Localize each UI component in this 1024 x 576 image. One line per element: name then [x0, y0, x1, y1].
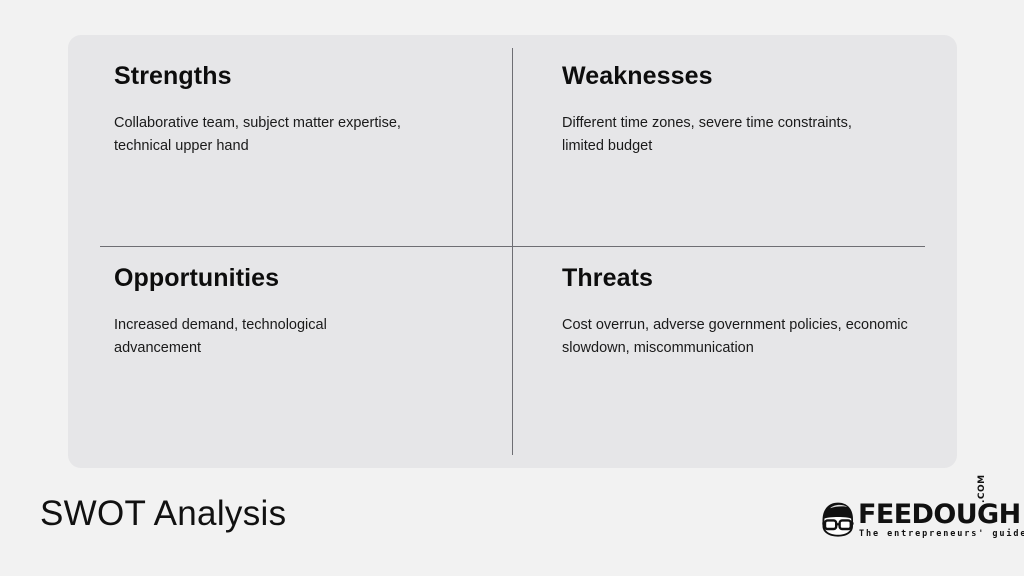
quadrant-threats-heading: Threats [562, 265, 942, 293]
quadrant-opportunities: Opportunities Increased demand, technolo… [114, 265, 504, 445]
feedough-face-glasses-icon [818, 500, 860, 538]
quadrant-opportunities-heading: Opportunities [114, 265, 504, 293]
logo-wordmark: FEEDOUGH [858, 501, 1021, 528]
quadrant-strengths-body: Collaborative team, subject matter exper… [114, 112, 424, 159]
quadrant-opportunities-body: Increased demand, technological advancem… [114, 314, 414, 361]
quadrant-strengths: Strengths Collaborative team, subject ma… [114, 63, 504, 243]
logo-tld: .COM [978, 474, 987, 503]
quadrant-threats: Threats Cost overrun, adverse government… [562, 265, 942, 445]
divider-horizontal [100, 246, 925, 247]
quadrant-threats-body: Cost overrun, adverse government policie… [562, 314, 934, 361]
feedough-logo[interactable]: FEEDOUGH .COM The entrepreneurs' guide [818, 500, 1008, 548]
quadrant-weaknesses-heading: Weaknesses [562, 63, 942, 91]
swot-card: Strengths Collaborative team, subject ma… [68, 35, 957, 468]
quadrant-weaknesses: Weaknesses Different time zones, severe … [562, 63, 942, 243]
page-title: SWOT Analysis [40, 495, 286, 534]
quadrant-strengths-heading: Strengths [114, 63, 504, 91]
divider-vertical [512, 48, 513, 455]
quadrant-weaknesses-body: Different time zones, severe time constr… [562, 112, 852, 159]
logo-tagline: The entrepreneurs' guide [859, 530, 1024, 539]
